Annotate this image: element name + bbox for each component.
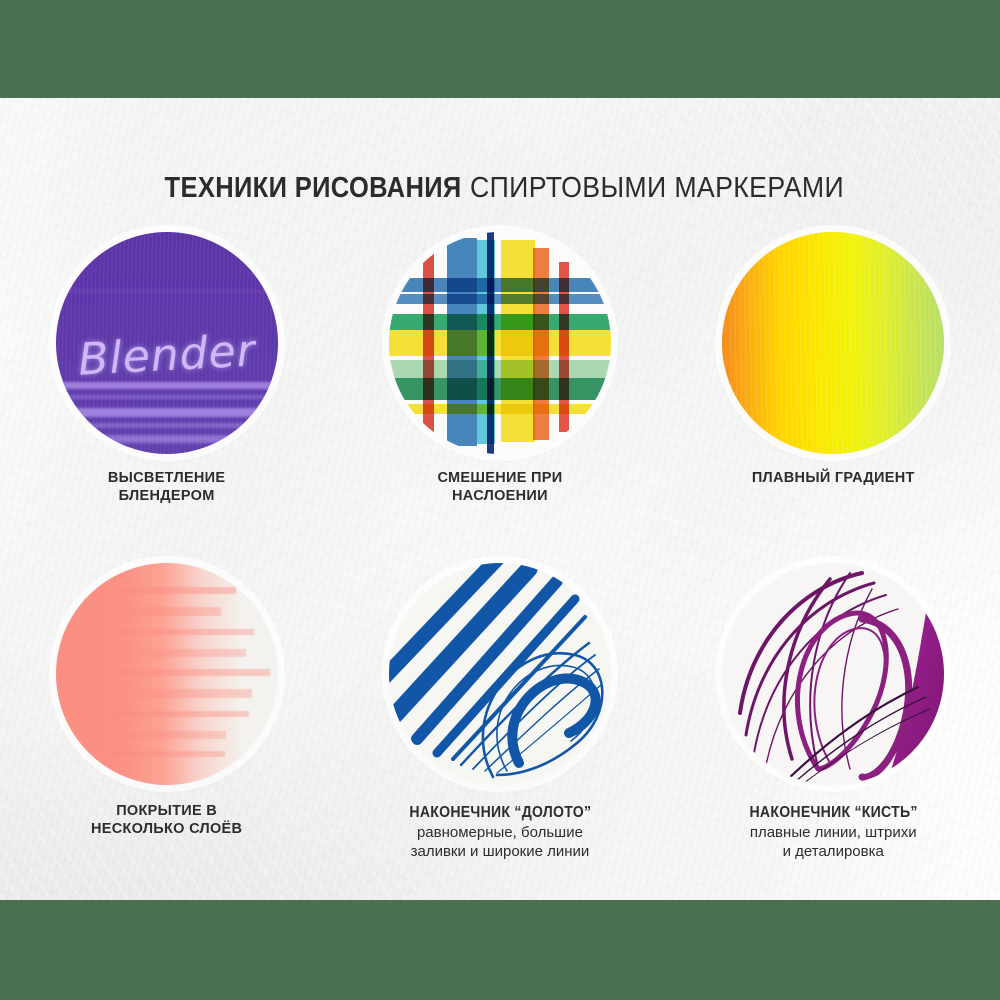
samples-row-1: Blender ВЫСВЕТЛЕНИЕ БЛЕНДЕРОМ: [0, 232, 1000, 505]
swatch-layering-wrap: [389, 232, 611, 454]
caption-gradient: ПЛАВНЫЙ ГРАДИЕНТ: [752, 470, 915, 488]
caption-line: НАСЛОЕНИИ: [437, 488, 562, 506]
caption-multilayer: ПОКРЫТИЕ В НЕСКОЛЬКО СЛОЁВ: [91, 803, 242, 838]
sample-brush-tip: НАКОНЕЧНИК “КИСТЬ” плавные линии, штрихи…: [667, 563, 1000, 861]
swatch-multilayer-wrap: [56, 563, 278, 785]
caption-line: ПЛАВНЫЙ ГРАДИЕНТ: [752, 470, 915, 488]
sample-blender: Blender ВЫСВЕТЛЕНИЕ БЛЕНДЕРОМ: [0, 232, 333, 505]
caption-line: НАКОНЕЧНИК “ДОЛОТО”: [409, 803, 591, 823]
caption-blender: ВЫСВЕТЛЕНИЕ БЛЕНДЕРОМ: [108, 470, 226, 505]
caption-subline: равномерные, большие: [397, 824, 604, 842]
caption-line: НЕСКОЛЬКО СЛОЁВ: [91, 821, 242, 839]
samples-row-2: ПОКРЫТИЕ В НЕСКОЛЬКО СЛОЁВ: [0, 563, 1000, 861]
caption-line: БЛЕНДЕРОМ: [108, 488, 226, 506]
swatch-brush: [722, 563, 944, 785]
swatch-layering: [389, 232, 611, 454]
swatch-multilayer: [56, 563, 278, 785]
caption-subline: и деталировка: [738, 843, 929, 861]
caption-brush-tip: НАКОНЕЧНИК “КИСТЬ” плавные линии, штрихи…: [738, 803, 929, 861]
caption-subline: заливки и широкие линии: [397, 843, 604, 861]
samples-grid: Blender ВЫСВЕТЛЕНИЕ БЛЕНДЕРОМ: [0, 232, 1000, 861]
caption-subline: плавные линии, штрихи: [738, 824, 929, 842]
title-light: СПИРТОВЫМИ МАРКЕРАМИ: [470, 172, 844, 205]
swatch-chisel: [389, 563, 611, 785]
swatch-chisel-wrap: [389, 563, 611, 785]
sample-gradient: ПЛАВНЫЙ ГРАДИЕНТ: [667, 232, 1000, 505]
swatch-brush-wrap: [722, 563, 944, 785]
top-green-band: [0, 0, 1000, 98]
chisel-strokes-icon: [389, 563, 611, 785]
page-title: ТЕХНИКИ РИСОВАНИЯ СПИРТОВЫМИ МАРКЕРАМИ: [0, 172, 1000, 205]
swatch-gradient: [722, 232, 944, 454]
swatch-blender-wrap: Blender: [56, 232, 278, 454]
caption-line: НАКОНЕЧНИК “КИСТЬ”: [749, 803, 917, 823]
bottom-green-band: [0, 900, 1000, 1000]
title-strong: ТЕХНИКИ РИСОВАНИЯ: [164, 172, 461, 205]
sample-multilayer: ПОКРЫТИЕ В НЕСКОЛЬКО СЛОЁВ: [0, 563, 333, 861]
caption-layering: СМЕШЕНИЕ ПРИ НАСЛОЕНИИ: [437, 470, 562, 505]
sample-chisel-tip: НАКОНЕЧНИК “ДОЛОТО” равномерные, большие…: [333, 563, 666, 861]
swatch-gradient-wrap: [722, 232, 944, 454]
blender-handwriting: Blender: [56, 324, 278, 387]
caption-line: ПОКРЫТИЕ В: [91, 803, 242, 821]
swatch-blender: Blender: [56, 232, 278, 454]
sample-layering: СМЕШЕНИЕ ПРИ НАСЛОЕНИИ: [333, 232, 666, 505]
caption-line: СМЕШЕНИЕ ПРИ: [437, 470, 562, 488]
caption-line: ВЫСВЕТЛЕНИЕ: [108, 470, 226, 488]
poster: ТЕХНИКИ РИСОВАНИЯ СПИРТОВЫМИ МАРКЕРАМИ B…: [0, 0, 1000, 1000]
caption-chisel-tip: НАКОНЕЧНИК “ДОЛОТО” равномерные, большие…: [397, 803, 604, 861]
brush-strokes-icon: [722, 563, 944, 785]
